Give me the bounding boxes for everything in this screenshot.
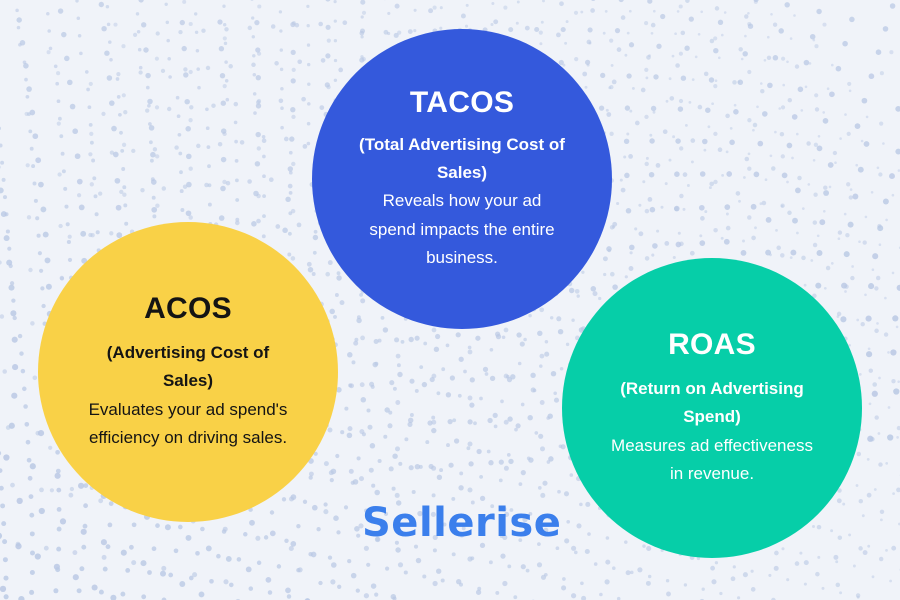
metric-circle-roas[interactable]: ROAS (Return on Advertising Spend) Measu…: [562, 258, 862, 558]
metric-subtitle-roas: (Return on Advertising Spend): [605, 375, 820, 431]
metric-subtitle-acos: (Advertising Cost of Sales): [81, 339, 296, 395]
metric-circle-acos[interactable]: ACOS (Advertising Cost of Sales) Evaluat…: [38, 222, 338, 522]
metric-title-roas: ROAS: [668, 328, 756, 361]
metric-circle-tacos[interactable]: TACOS (Total Advertising Cost of Sales) …: [312, 29, 612, 329]
metric-description-roas: Measures ad effectiveness in revenue.: [610, 432, 815, 488]
metric-subtitle-tacos: (Total Advertising Cost of Sales): [355, 131, 570, 187]
metric-description-acos: Evaluates your ad spend's efficiency on …: [86, 396, 291, 452]
infographic-canvas: TACOS (Total Advertising Cost of Sales) …: [0, 0, 900, 600]
brand-wordmark[interactable]: Sellerise: [362, 503, 561, 543]
metric-title-tacos: TACOS: [410, 86, 514, 119]
metric-description-tacos: Reveals how your ad spend impacts the en…: [360, 187, 565, 271]
metric-title-acos: ACOS: [144, 292, 232, 325]
